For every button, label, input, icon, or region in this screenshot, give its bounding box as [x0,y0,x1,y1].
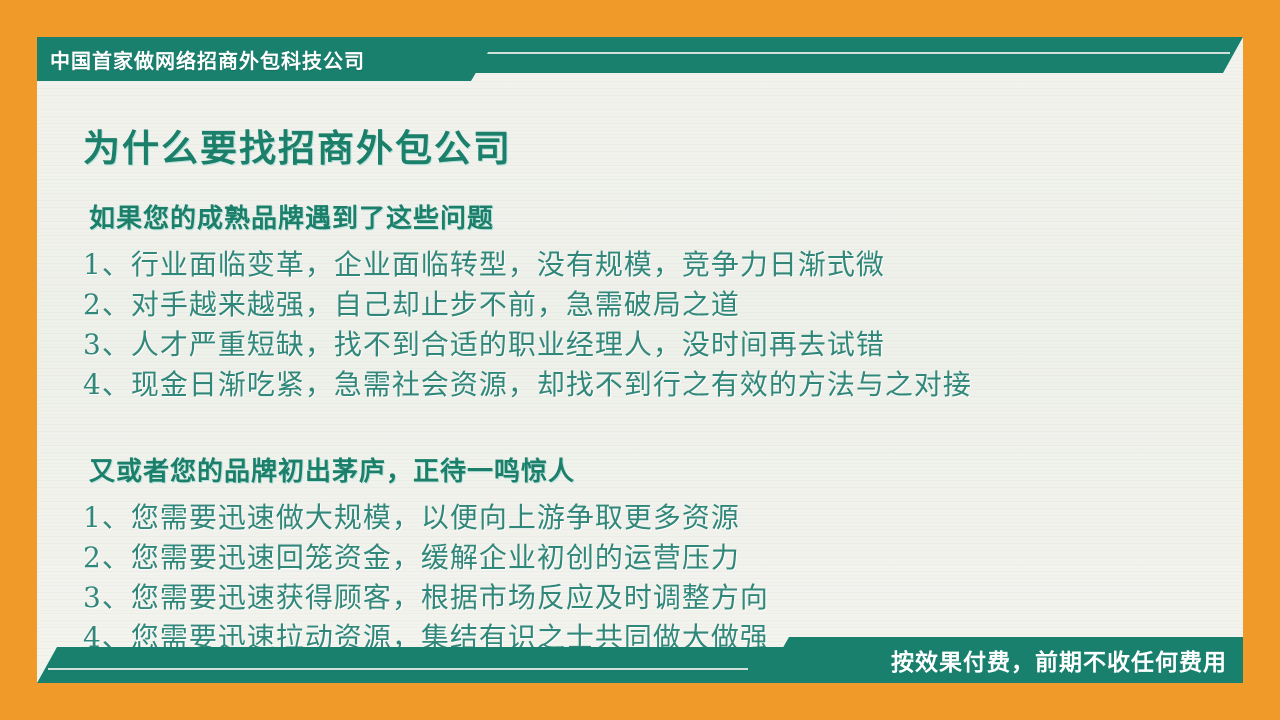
problem-list-1: 1、行业面临变革，企业面临转型，没有规模，竞争力日渐式微 2、对手越来越强，自己… [83,245,1243,405]
list-item: 1、您需要迅速做大规模，以便向上游争取更多资源 [83,498,1243,538]
list-item: 2、您需要迅速回笼资金，缓解企业初创的运营压力 [83,538,1243,578]
footer: 按效果付费，前期不收任何费用 [0,600,1280,720]
slide-root: 中国首家做网络招商外包科技公司 为什么要找招商外包公司 如果您的成熟品牌遇到了这… [0,0,1280,720]
list-item: 4、现金日渐吃紧，急需社会资源，却找不到行之有效的方法与之对接 [83,365,1243,405]
section-heading-2: 又或者您的品牌初出茅庐，正待一鸣惊人 [89,451,1243,488]
footer-tagline-text: 按效果付费，前期不收任何费用 [891,643,1227,677]
header-tagline-banner: 中国首家做网络招商外包科技公司 [37,37,497,81]
section-heading-1: 如果您的成熟品牌遇到了这些问题 [89,198,1243,235]
list-item: 3、人才严重短缺，找不到合适的职业经理人，没时间再去试错 [83,325,1243,365]
footer-tagline-banner: 按效果付费，前期不收任何费用 [763,637,1243,683]
footer-accent-line [48,668,748,670]
page-title: 为什么要找招商外包公司 [83,118,1243,172]
section-spacer [37,405,1243,425]
main-content: 为什么要找招商外包公司 如果您的成熟品牌遇到了这些问题 1、行业面临变革，企业面… [37,90,1243,658]
list-item: 1、行业面临变革，企业面临转型，没有规模，竞争力日渐式微 [83,245,1243,285]
list-item: 2、对手越来越强，自己却止步不前，急需破局之道 [83,285,1243,325]
header-tagline-text: 中国首家做网络招商外包科技公司 [50,45,365,74]
